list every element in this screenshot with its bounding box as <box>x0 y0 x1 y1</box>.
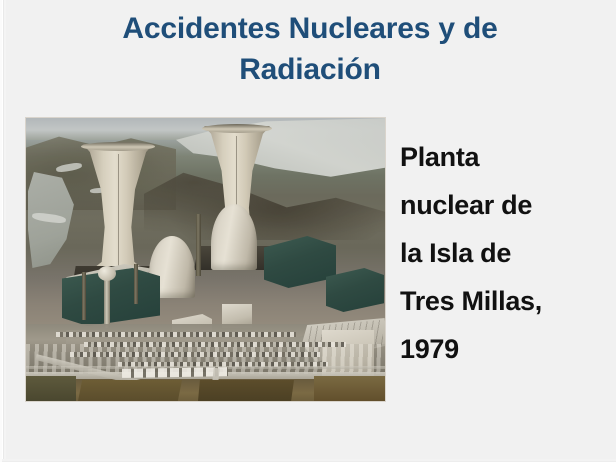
cooling-tower-left-rim <box>81 142 155 151</box>
cooling-tower-seam <box>118 154 119 276</box>
title-line-1: Accidentes Nucleares y de <box>2 8 616 49</box>
presentation-slide: Accidentes Nucleares y de Radiación <box>0 0 616 462</box>
plowed-field <box>314 376 385 401</box>
water-tower-tank <box>98 266 116 281</box>
exhaust-stack <box>134 264 138 304</box>
parked-vehicles-row <box>70 352 320 357</box>
caption-line-4: Tres Millas, <box>400 277 606 325</box>
parked-vehicles-row <box>56 332 296 337</box>
caption-line-3: la Isla de <box>400 229 606 277</box>
plowed-field <box>198 380 294 401</box>
caption-line-5: 1979 <box>400 325 606 373</box>
caption-line-1: Planta <box>400 133 606 181</box>
grass-field <box>26 376 76 401</box>
nuclear-plant-photo <box>26 118 385 401</box>
parked-vehicles-row <box>84 342 346 347</box>
photo-caption: Planta nuclear de la Isla de Tres Millas… <box>400 133 606 373</box>
cooling-tower-right-rim <box>202 124 272 133</box>
title-line-2: Radiación <box>2 49 616 90</box>
caption-line-2: nuclear de <box>400 181 606 229</box>
exhaust-stack <box>196 214 201 276</box>
plowed-field <box>78 380 182 401</box>
page-title: Accidentes Nucleares y de Radiación <box>2 8 616 90</box>
exhaust-stack <box>82 272 86 320</box>
